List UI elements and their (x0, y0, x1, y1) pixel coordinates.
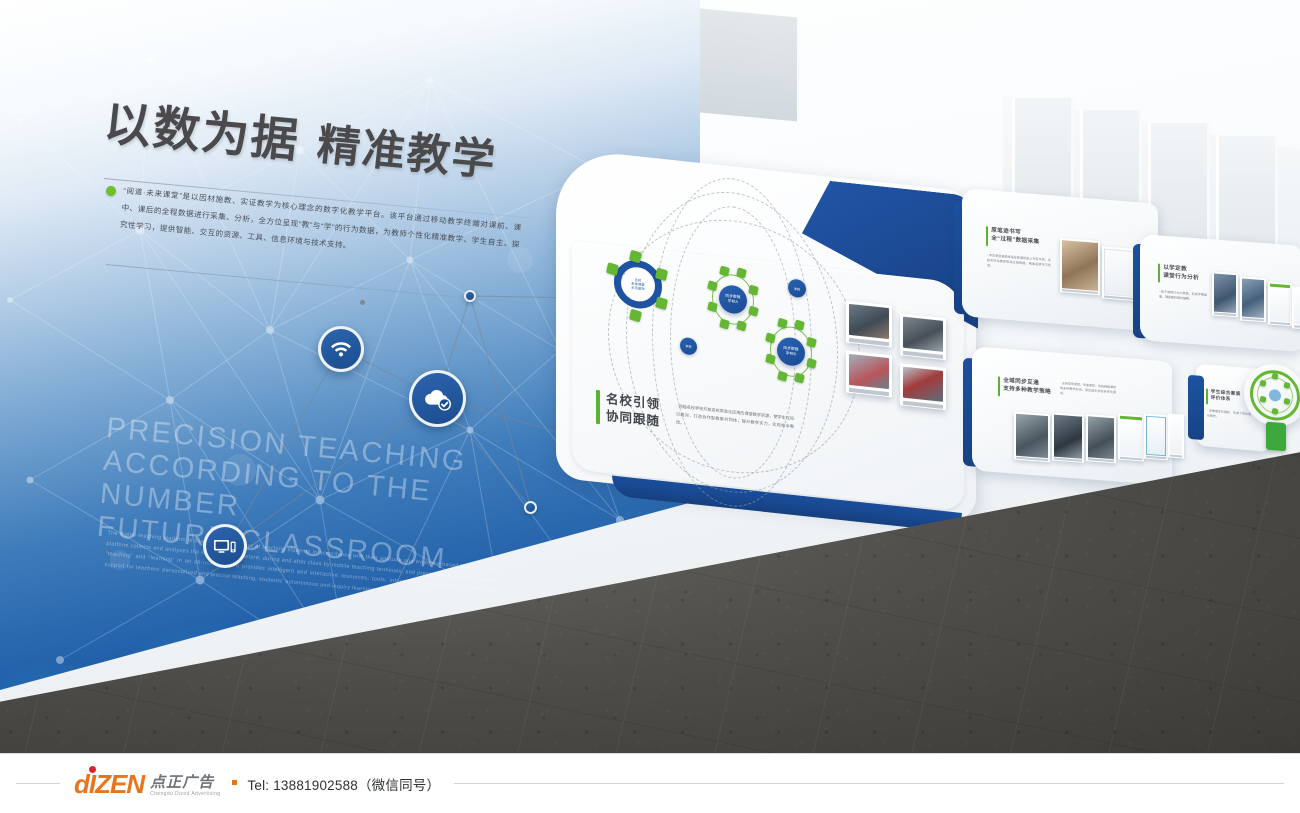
panel-classroom-analysis: 以学定教 课堂行为分析 · 基于课堂行为大数据，形成学情画像，辅助教师因材施教。 (1140, 234, 1300, 352)
panel2-card (1240, 276, 1266, 322)
panel3-card (1086, 414, 1116, 463)
main-display-panel: 名校未来课堂示范基地 同步跟随学校A (556, 148, 976, 548)
panel2-card (1292, 286, 1300, 330)
panel3-card (1052, 412, 1084, 462)
logo-wordmark-text: dIZEN (74, 769, 144, 799)
logo-english-name: Chengdu Dized Advertising (150, 791, 220, 797)
panel2-title-line-2: 课堂行为分析 (1163, 272, 1199, 283)
footer-line-left (16, 783, 60, 784)
footer-bar: dIZEN 点正广告 Chengdu Dized Advertising Tel… (0, 753, 1300, 813)
title-accent-bar (596, 390, 600, 424)
network-node-dot-1 (464, 290, 476, 302)
main-panel-title: 名校引领 协同跟随 (596, 390, 660, 431)
photo-card (900, 313, 946, 360)
logo-chinese-name: 点正广告 (150, 775, 220, 791)
photo-card (846, 301, 892, 348)
panel1-card (1060, 238, 1100, 295)
cloud-check-icon (409, 370, 466, 427)
company-logo: dIZEN 点正广告 Chengdu Dized Advertising (74, 771, 220, 797)
device-monitor-icon (203, 524, 247, 568)
panel3-card (1014, 412, 1050, 463)
panel-evaluation: 学生综合素质 评价体系 · 多维度评价指标，生成个性化成长报告。 (1196, 353, 1300, 470)
panel2-card (1212, 271, 1238, 317)
network-node-dot-2 (524, 501, 537, 514)
room-interior: 以数为据精准教学 “阅道·未来课堂”是以因材施教、实证教学为核心理念的数字化教学… (0, 0, 1300, 753)
panel-strategy: 全域同步互通 支持多种教学策略 · 支持双师课堂、专递课堂、名校网络课堂等多种教… (972, 346, 1172, 485)
logo-i-dot-icon (89, 766, 96, 773)
wifi-icon (318, 326, 364, 372)
contact-phone: Tel: 13881902588（微信同号） (247, 774, 440, 794)
footer-separator-dot (232, 780, 237, 785)
photo-card (846, 351, 892, 398)
screenshot-canvas: 以数为据精准教学 “阅道·未来课堂”是以因材施教、实证教学为核心理念的数字化教学… (0, 0, 1300, 813)
panel3-card (1168, 413, 1184, 458)
panel-data-collection: 原笔迹书写 全“过程”数据采集 · 学生使用智能纸笔在普通纸张上书写作答，系统实… (962, 188, 1158, 332)
panel3-card (1118, 414, 1144, 462)
logo-wordmark: dIZEN (74, 771, 144, 797)
hex-cluster-2: 同步跟随学校A (704, 265, 762, 333)
hex-cluster-3: 同步跟随学校B (762, 318, 820, 386)
panel3-card (1144, 414, 1168, 461)
headline-rule-dot (360, 300, 365, 305)
footer-line-right (454, 783, 1284, 784)
panel2-card (1268, 281, 1292, 326)
hex-cluster-1: 名校未来课堂示范基地 (608, 249, 668, 325)
photo-card (900, 363, 946, 410)
